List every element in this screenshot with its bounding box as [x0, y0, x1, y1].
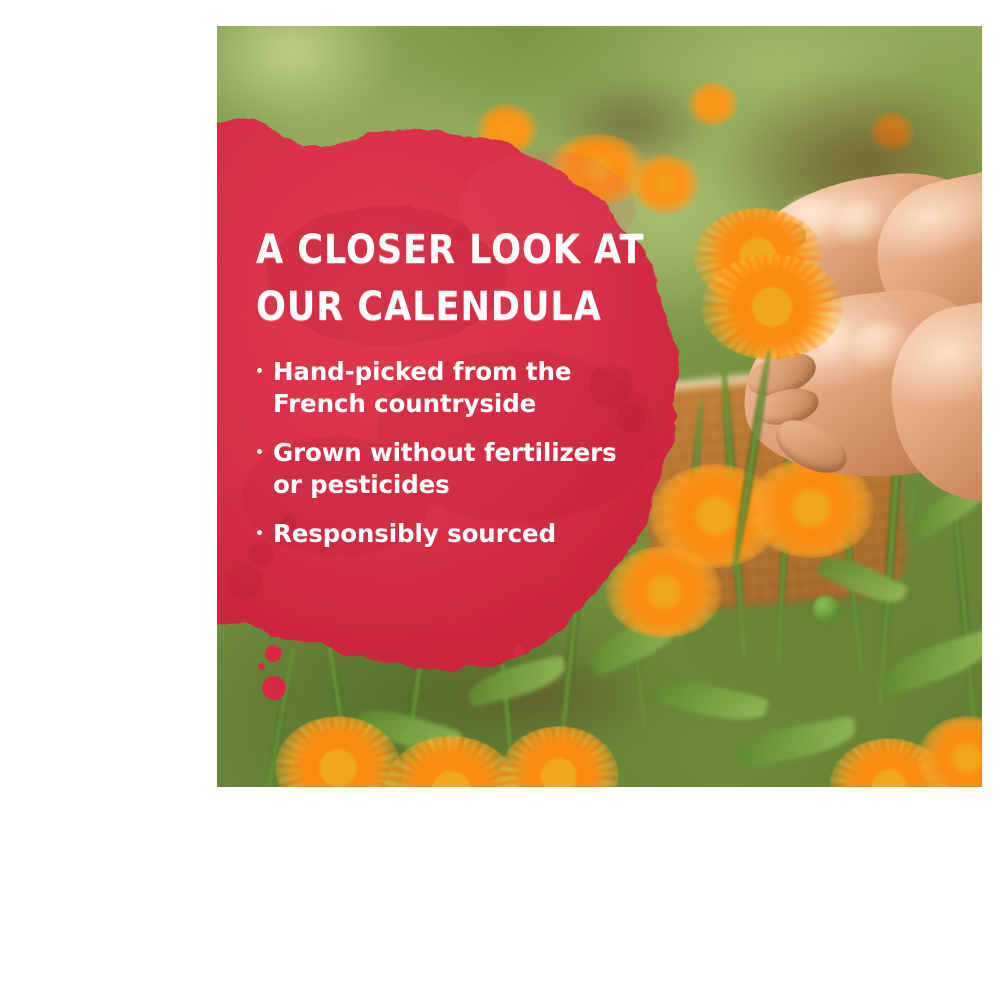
list-item: Hand-picked from the French countryside — [256, 356, 656, 420]
leaf — [465, 654, 569, 707]
bullet-dot-icon — [257, 530, 262, 535]
calendula-feature-card: A Closer Look At Our Calendula Hand-pick… — [217, 26, 982, 787]
leaf — [655, 673, 769, 729]
bullet-text-line: or pesticides — [273, 469, 656, 501]
bullet-text-line: French countryside — [273, 388, 656, 420]
leaf — [875, 628, 982, 697]
upper-hand-knuckle — [833, 202, 891, 246]
list-item: Grown without fertilizers or pesticides — [256, 437, 656, 501]
bullet-dot-icon — [257, 449, 262, 454]
bullet-text-line: Grown without fertilizers — [273, 437, 656, 469]
paint-droplet-1 — [265, 645, 282, 662]
bullet-dot-icon — [257, 368, 262, 373]
picked-bloom — [701, 254, 843, 360]
paint-droplet-4 — [513, 645, 524, 656]
headline-line-2: Our Calendula — [256, 279, 626, 336]
headline-line-1: A Closer Look At — [256, 222, 626, 279]
bullet-text-line: Responsibly sourced — [273, 518, 656, 550]
midground-bloom — [605, 546, 723, 638]
lower-hand-knuckle — [851, 322, 913, 370]
flower-bud — [813, 596, 839, 622]
page-canvas: A Closer Look At Our Calendula Hand-pick… — [0, 0, 1000, 1000]
paint-droplet-3 — [262, 676, 286, 700]
list-item: Responsibly sourced — [256, 518, 656, 550]
page-title: A Closer Look At Our Calendula — [256, 222, 626, 336]
feature-bullet-list: Hand-picked from the French countryside … — [256, 356, 656, 550]
bullet-text-line: Hand-picked from the — [273, 356, 656, 388]
paint-droplet-2 — [258, 663, 265, 670]
